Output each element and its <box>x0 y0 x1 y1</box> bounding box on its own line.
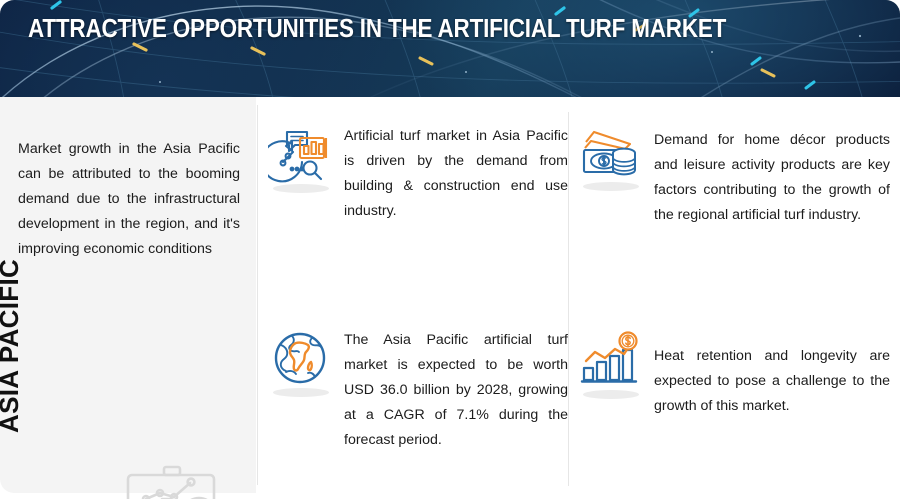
presentation-chart-magnifier-icon <box>120 459 244 499</box>
insight-text-home-decor: Demand for home décor products and leisu… <box>654 128 890 228</box>
region-label: ASIA PACIFIC <box>0 283 24 433</box>
growth-bar-chart-dollar-icon <box>578 330 642 394</box>
icon-shadow <box>583 390 639 399</box>
icon-wrap-b <box>578 122 642 186</box>
pie-chart-bar-chart-analysis-icon <box>268 124 332 188</box>
infographic-page: ATTRACTIVE OPPORTUNITIES IN THE ARTIFICI… <box>0 0 900 499</box>
insight-cell-market-driver: Artificial turf market in Asia Pacific i… <box>268 124 568 224</box>
insight-text-market-driver: Artificial turf market in Asia Pacific i… <box>344 124 568 224</box>
insight-cell-home-decor: Demand for home décor products and leisu… <box>578 122 890 222</box>
icon-shadow <box>273 184 329 193</box>
insight-text-challenge: Heat retention and longevity are expecte… <box>654 344 890 419</box>
icon-wrap-a <box>268 124 332 188</box>
header-banner: ATTRACTIVE OPPORTUNITIES IN THE ARTIFICI… <box>0 0 900 97</box>
divider-left <box>257 105 258 485</box>
icon-wrap-d <box>578 330 642 394</box>
icon-shadow <box>273 388 329 397</box>
divider-middle <box>568 112 569 486</box>
icon-wrap-c <box>268 328 332 392</box>
left-summary-panel: Market growth in the Asia Pacific can be… <box>0 97 256 493</box>
money-banknote-coins-icon <box>578 122 642 186</box>
insight-text-market-forecast: The Asia Pacific artificial turf market … <box>344 328 568 453</box>
insight-cell-market-forecast: The Asia Pacific artificial turf market … <box>268 328 568 453</box>
left-panel-paragraph: Market growth in the Asia Pacific can be… <box>18 137 240 262</box>
page-title: ATTRACTIVE OPPORTUNITIES IN THE ARTIFICI… <box>28 12 726 46</box>
globe-world-icon <box>268 328 332 392</box>
icon-shadow <box>583 182 639 191</box>
insight-cell-challenge: Heat retention and longevity are expecte… <box>578 330 890 405</box>
